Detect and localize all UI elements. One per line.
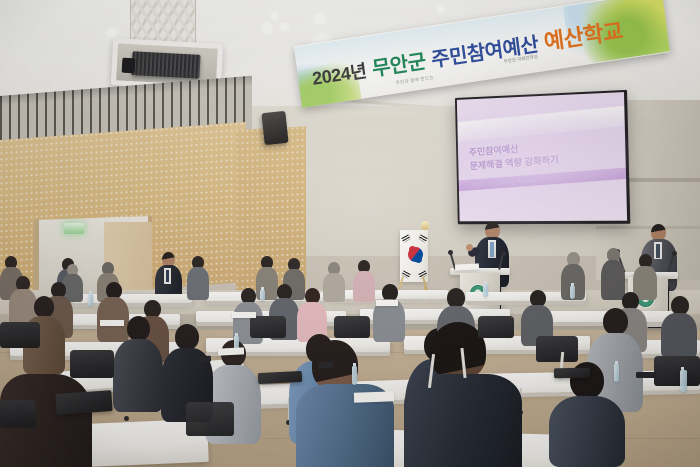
- chair[interactable]: [0, 400, 36, 428]
- chair[interactable]: [334, 316, 370, 338]
- list-item: [372, 284, 406, 342]
- water-bottle[interactable]: [260, 290, 265, 301]
- table-caster: [124, 416, 129, 421]
- ceiling-downlight: [103, 27, 121, 38]
- audience-body: [661, 313, 697, 358]
- audience-head: [34, 296, 54, 318]
- chair[interactable]: [186, 402, 234, 436]
- handout[interactable]: [354, 391, 394, 402]
- audience-head: [127, 316, 150, 341]
- chair[interactable]: [0, 322, 40, 348]
- projector-icon: [131, 51, 200, 79]
- audience-body: [549, 396, 625, 467]
- list-item: [112, 316, 164, 412]
- handout[interactable]: [232, 312, 256, 318]
- list-item: [660, 296, 698, 358]
- list-item: [186, 256, 210, 300]
- water-bottle[interactable]: [352, 366, 357, 385]
- trigram: [418, 234, 427, 242]
- projection-screen: 주민참여예산 문제해결 역량 강화하기 무안군 주민참여예산 예산학교: [455, 90, 630, 224]
- attendee-shirt: [404, 374, 522, 467]
- ceiling-downlight: [309, 12, 331, 25]
- ceiling-downlight: [261, 18, 273, 38]
- chair[interactable]: [250, 316, 286, 338]
- water-bottle[interactable]: [88, 294, 93, 306]
- chair[interactable]: [478, 316, 514, 338]
- trigram: [401, 234, 410, 242]
- audience-body: [113, 339, 163, 412]
- audience-head: [175, 324, 199, 350]
- audience-body: [187, 267, 209, 300]
- audience-head: [603, 308, 628, 335]
- attendee-tie: [166, 270, 169, 282]
- tablet-folder[interactable]: [258, 371, 303, 384]
- water-bottle[interactable]: [614, 364, 619, 382]
- slide-title: 주민참여예산 문제해결 역량 강화하기: [468, 135, 614, 174]
- water-bottle[interactable]: [483, 284, 488, 297]
- foreground-attendee-blue: [296, 340, 394, 467]
- mobile-phone[interactable]: [636, 372, 656, 378]
- tablet-folder[interactable]: [55, 390, 112, 415]
- wall-speaker-icon: [261, 111, 288, 145]
- mobile-phone[interactable]: [196, 356, 211, 363]
- handout[interactable]: [376, 300, 398, 306]
- handout[interactable]: [100, 320, 124, 326]
- speaker-hand: [466, 244, 473, 251]
- water-bottle[interactable]: [680, 370, 687, 392]
- emergency-exit-sign-icon: [63, 222, 85, 235]
- projection-screen-surface: 주민참여예산 문제해결 역량 강화하기 무안군 주민참여예산 예산학교: [457, 92, 627, 221]
- podium-notes: [455, 263, 479, 270]
- water-bottle[interactable]: [570, 286, 575, 299]
- ceiling-downlight: [434, 5, 448, 14]
- microphone-icon: [501, 251, 506, 256]
- taeguk-symbol: [408, 247, 423, 262]
- korean-flag-icon: [400, 230, 428, 282]
- mobile-phone[interactable]: [318, 361, 334, 368]
- seminar-photo: 주민참여예산 문제해결 역량 강화하기 무안군 주민참여예산 예산학교 2024…: [0, 0, 700, 467]
- tablet-folder[interactable]: [554, 368, 590, 379]
- speaker-tie: [490, 242, 494, 257]
- microphone-icon: [448, 250, 453, 255]
- ceiling-downlight: [276, 22, 292, 32]
- audience-head: [447, 288, 465, 308]
- foreground-attendee-navy: [404, 322, 522, 467]
- chair[interactable]: [654, 356, 700, 386]
- handout[interactable]: [218, 347, 244, 355]
- projector-lens-icon: [122, 58, 136, 74]
- microphone-icon: [672, 251, 677, 256]
- chair[interactable]: [70, 350, 114, 378]
- flag-finial: [421, 221, 429, 230]
- chair[interactable]: [536, 336, 578, 362]
